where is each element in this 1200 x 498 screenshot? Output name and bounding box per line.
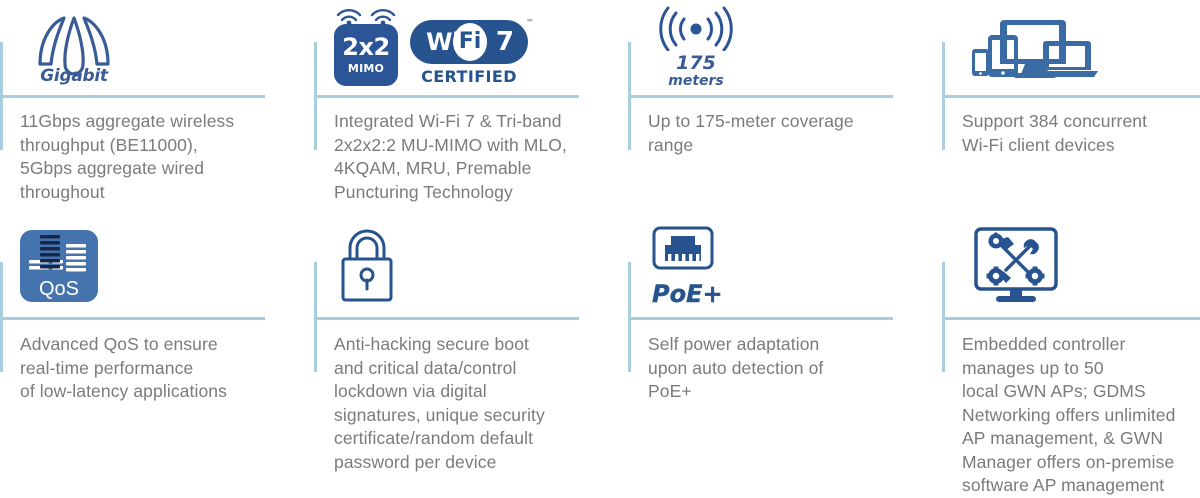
feature-description: Integrated Wi-Fi 7 & Tri-band 2x2x2:2 MU… [334, 110, 620, 204]
feature-card-qos: QoS Advanced QoS to ensure real-time per… [0, 215, 314, 481]
gigabit-logo-icon: Gigabit [20, 8, 128, 88]
signal-waves-icon: 175 meters [648, 5, 744, 89]
icon-container: Gigabit [20, 0, 128, 95]
horizontal-divider [0, 317, 265, 320]
wifi7-icon-group: 2x2 MIMO Wi Fi 7 ™ CERTIFIED [334, 20, 528, 86]
mimo-box: 2x2 MIMO [334, 24, 398, 86]
feature-description: Anti-hacking secure boot and critical da… [334, 333, 620, 474]
qos-label: QoS [20, 279, 98, 299]
feature-card-clients: Support 384 concurrent Wi-Fi client devi… [942, 0, 1200, 215]
wifi7-certified-icon: Wi Fi 7 ™ CERTIFIED [410, 20, 528, 86]
padlock-icon [336, 228, 398, 304]
icon-container [336, 215, 398, 317]
feature-grid: Gigabit 11Gbps aggregate wireless throug… [0, 0, 1200, 481]
ethernet-port-icon: PoE+ [652, 224, 742, 308]
icon-container: PoE+ [652, 215, 742, 317]
feature-card-poe: PoE+ Self power adaptation upon auto det… [628, 215, 942, 481]
horizontal-divider [0, 95, 265, 98]
icon-container: 2x2 MIMO Wi Fi 7 ™ CERTIFIED [334, 10, 528, 95]
feature-description: Advanced QoS to ensure real-time perform… [20, 333, 306, 404]
feature-row-1: Gigabit 11Gbps aggregate wireless throug… [0, 0, 1200, 215]
horizontal-divider [942, 95, 1200, 98]
wifi-certified-label: CERTIFIED [410, 67, 528, 86]
feature-card-gigabit: Gigabit 11Gbps aggregate wireless throug… [0, 0, 314, 215]
mimo-2x2-badge-icon: 2x2 MIMO [334, 24, 398, 86]
feature-description: Embedded controller manages up to 50 loc… [962, 333, 1192, 498]
mimo-title: 2x2 [342, 35, 389, 59]
horizontal-divider [628, 95, 893, 98]
coverage-range-unit: meters [648, 73, 744, 89]
multi-devices-icon [970, 14, 1098, 82]
icon-container [972, 215, 1060, 317]
feature-card-wifi7: 2x2 MIMO Wi Fi 7 ™ CERTIFIED [314, 0, 628, 215]
wifi7-pill: Wi Fi 7 [410, 20, 528, 64]
equalizer-qos-icon: QoS [20, 230, 98, 302]
horizontal-divider [314, 317, 579, 320]
coverage-range-value: 175 [648, 54, 744, 73]
gigabit-label: Gigabit [20, 66, 128, 86]
icon-container: QoS [20, 215, 98, 317]
icon-container [970, 0, 1098, 95]
feature-description: Support 384 concurrent Wi-Fi client devi… [962, 110, 1192, 157]
monitor-tools-icon [972, 226, 1060, 306]
horizontal-divider [942, 317, 1200, 320]
feature-description: 11Gbps aggregate wireless throughput (BE… [20, 110, 306, 204]
feature-row-2: QoS Advanced QoS to ensure real-time per… [0, 215, 1200, 481]
feature-description: Up to 175-meter coverage range [648, 110, 934, 157]
icon-container: 175 meters [648, 0, 744, 95]
wifi-generation: 7 [496, 20, 514, 64]
horizontal-divider [628, 317, 893, 320]
feature-card-management: Embedded controller manages up to 50 loc… [942, 215, 1200, 481]
feature-card-coverage: 175 meters Up to 175-meter coverage rang… [628, 0, 942, 215]
poe-label: PoE+ [652, 280, 742, 308]
mimo-subtitle: MIMO [348, 63, 384, 74]
feature-description: Self power adaptation upon auto detectio… [648, 333, 934, 404]
trademark-symbol: ™ [526, 18, 534, 27]
horizontal-divider [314, 95, 579, 98]
antenna-waves-icon [334, 4, 398, 26]
feature-card-security: Anti-hacking secure boot and critical da… [314, 215, 628, 481]
wifi-brand-fi: Fi [453, 23, 487, 61]
